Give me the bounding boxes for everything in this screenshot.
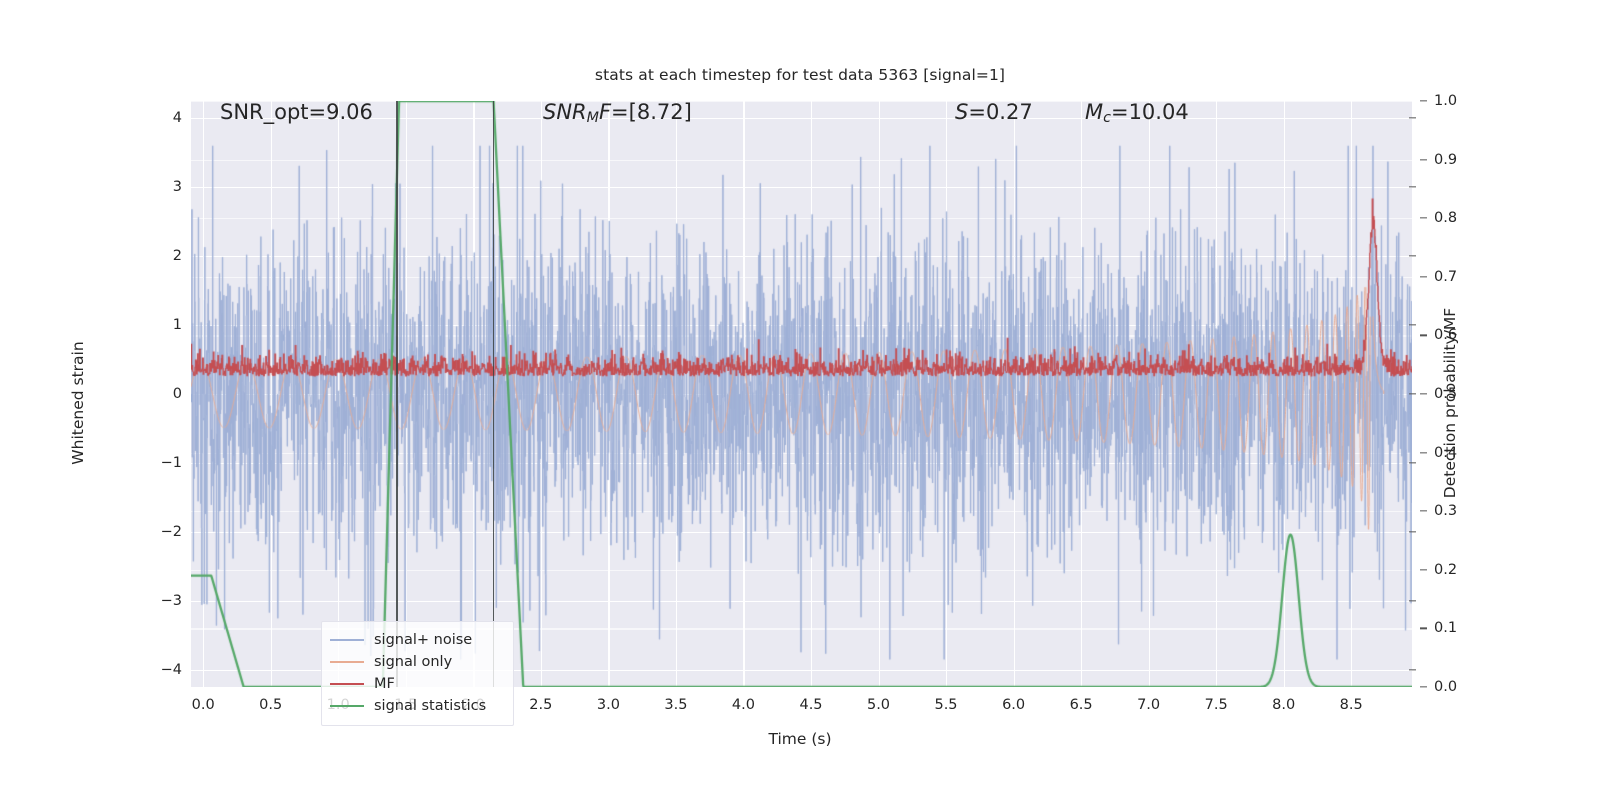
y-tick-mark-left (1409, 462, 1416, 463)
y-tick-label-right: 0.2 (1434, 562, 1457, 578)
x-tick-label: 4.0 (732, 697, 755, 713)
y-tick-mark-right (1420, 393, 1427, 394)
y-tick-label-left: −4 (161, 662, 182, 678)
y-tick-label-right: 0.0 (1434, 679, 1457, 695)
y-tick-mark-left (1409, 324, 1416, 325)
legend-label: MF (374, 676, 395, 692)
y-tick-mark-right (1420, 452, 1427, 453)
y-tick-mark-left (1409, 118, 1416, 119)
y-tick-mark-right (1420, 686, 1427, 687)
y-tick-label-right: 0.9 (1434, 152, 1457, 168)
legend-swatch-icon (330, 639, 364, 641)
y-tick-label-right: 0.1 (1434, 620, 1457, 636)
y-tick-mark-right (1420, 100, 1427, 101)
legend-label: signal statistics (374, 698, 486, 714)
x-tick-label: 7.0 (1137, 697, 1160, 713)
x-tick-label: 0.0 (192, 697, 215, 713)
x-tick-label: 4.5 (799, 697, 822, 713)
annotation-snr-opt: SNR_opt=9.06 (220, 100, 373, 124)
x-axis-label: Time (s) (0, 730, 1600, 748)
y-tick-mark-left (1409, 187, 1416, 188)
y-tick-label-right: 1.0 (1434, 93, 1457, 109)
y-tick-mark-left (1409, 531, 1416, 532)
y-tick-label-left: 4 (173, 110, 182, 126)
y-tick-mark-right (1420, 159, 1427, 160)
legend-swatch-icon (330, 683, 364, 685)
y-tick-mark-right (1420, 335, 1427, 336)
x-tick-label: 3.5 (664, 697, 687, 713)
legend-label: signal only (374, 654, 452, 670)
x-tick-label: 3.0 (597, 697, 620, 713)
y-tick-mark-right (1420, 276, 1427, 277)
y-tick-label-right: 0.4 (1434, 445, 1457, 461)
y-tick-label-right: 0.5 (1434, 386, 1457, 402)
x-tick-label: 2.5 (529, 697, 552, 713)
x-tick-label: 5.0 (867, 697, 890, 713)
x-tick-label: 8.5 (1340, 697, 1363, 713)
y-tick-label-right: 0.3 (1434, 503, 1457, 519)
y-axis-label-right: Detection probability/MF (1441, 273, 1459, 533)
legend-swatch-icon (330, 661, 364, 663)
y-tick-label-left: 3 (173, 179, 182, 195)
x-tick-label: 6.5 (1070, 697, 1093, 713)
legend-item[interactable]: signal statistics (330, 695, 505, 717)
y-tick-mark-left (1409, 255, 1416, 256)
chart-title: stats at each timestep for test data 536… (0, 66, 1600, 84)
y-axis-label-left: Whitened strain (69, 273, 87, 533)
y-tick-label-right: 0.6 (1434, 327, 1457, 343)
signal-boundary-marker (396, 101, 398, 687)
y-tick-mark-left (1409, 600, 1416, 601)
legend-swatch-icon (330, 705, 364, 707)
x-tick-label: 5.5 (934, 697, 957, 713)
y-tick-mark-right (1420, 628, 1427, 629)
x-tick-label: 6.0 (1002, 697, 1025, 713)
x-tick-label: 8.0 (1272, 697, 1295, 713)
legend[interactable]: signal+ noisesignal onlyMFsignal statist… (321, 621, 514, 726)
y-tick-label-left: 2 (173, 248, 182, 264)
annotation-s-stat: S=0.27 (955, 100, 1033, 124)
y-tick-mark-right (1420, 569, 1427, 570)
signal-boundary-marker (493, 101, 495, 687)
annotation-snr-mf: SNRMF=[8.72] (543, 100, 692, 126)
y-tick-label-right: 0.8 (1434, 210, 1457, 226)
data-layer (191, 101, 1412, 687)
y-tick-mark-left (1409, 393, 1416, 394)
x-tick-label: 0.5 (259, 697, 282, 713)
y-tick-mark-left (1409, 669, 1416, 670)
y-tick-label-left: −3 (161, 593, 182, 609)
y-tick-label-left: −2 (161, 524, 182, 540)
legend-item[interactable]: signal only (330, 651, 505, 673)
x-tick-label: 7.5 (1205, 697, 1228, 713)
legend-item[interactable]: signal+ noise (330, 629, 505, 651)
legend-item[interactable]: MF (330, 673, 505, 695)
y-tick-label-left: 1 (173, 317, 182, 333)
y-tick-label-left: −1 (161, 455, 182, 471)
annotation-chirp-mass: Mc=10.04 (1085, 100, 1189, 126)
legend-label: signal+ noise (374, 632, 472, 648)
y-tick-mark-right (1420, 511, 1427, 512)
y-tick-mark-right (1420, 218, 1427, 219)
series-canvas (191, 101, 1412, 687)
plot-area (191, 101, 1412, 687)
y-tick-label-right: 0.7 (1434, 269, 1457, 285)
figure: stats at each timestep for test data 536… (0, 0, 1600, 800)
y-tick-label-left: 0 (173, 386, 182, 402)
